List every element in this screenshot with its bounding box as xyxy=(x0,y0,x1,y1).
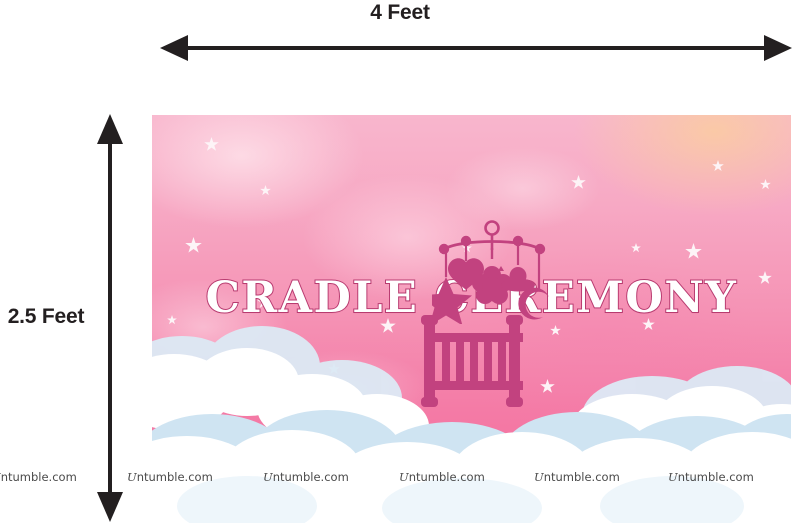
height-dimension-arrow xyxy=(96,114,124,522)
width-dimension-arrow xyxy=(160,34,792,62)
width-dimension-label: 4 Feet xyxy=(370,1,430,25)
watermark: Untumble.com xyxy=(263,470,349,484)
watermark: Untumble.com xyxy=(127,470,213,484)
height-dimension-label: 2.5 Feet xyxy=(8,305,85,329)
watermark: Untumble.com xyxy=(534,470,620,484)
poster-backdrop: CRADLE CEREMONY xyxy=(152,115,791,523)
cloud-band xyxy=(152,308,791,523)
watermark: Untumble.com xyxy=(668,470,754,484)
watermark: Untumble.com xyxy=(399,470,485,484)
watermark: Untumble.com xyxy=(0,470,77,484)
